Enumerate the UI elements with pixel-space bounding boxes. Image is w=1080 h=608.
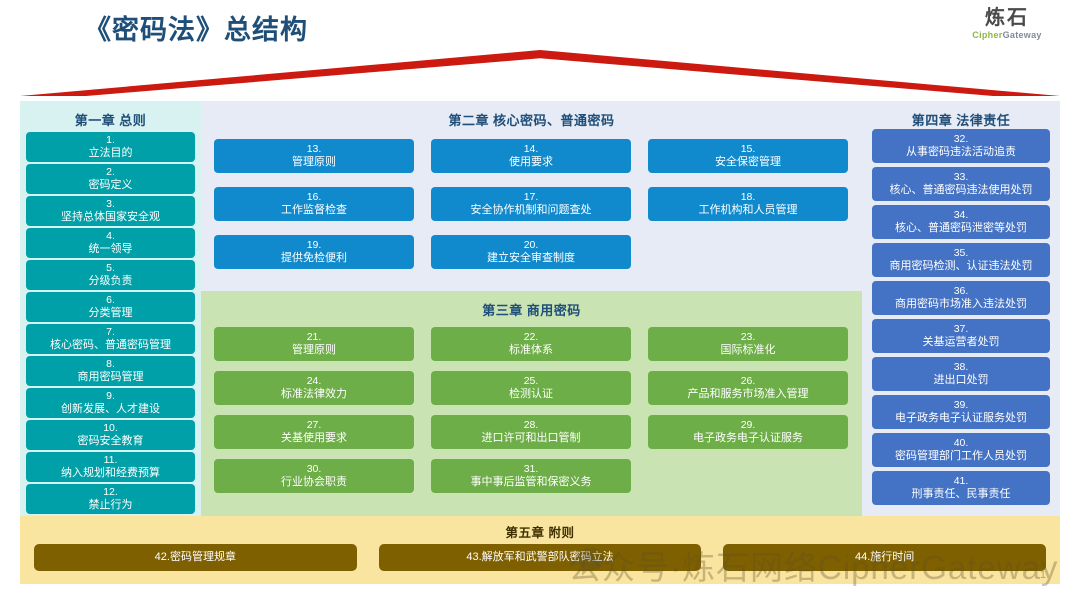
chapter4-item[interactable]: 35.商用密码检测、认证违法处罚 [872,243,1050,277]
slide-canvas: 《密码法》总结构 炼石 CipherGateway 密码法 第一章 总则 1.立… [0,0,1080,608]
item-number: 39. [954,399,969,411]
page-title: 《密码法》总结构 [84,8,308,47]
chapter5-item[interactable]: 44.施行时间 [723,544,1046,571]
item-text: 安全协作机制和问题查处 [471,204,592,217]
chapter1-item[interactable]: 5.分级负责 [26,260,195,290]
chapter4-item[interactable]: 39.电子政务电子认证服务处罚 [872,395,1050,429]
item-text: 工作监督检查 [281,204,347,217]
chapter3-item[interactable]: 22.标准体系 [431,327,631,361]
chapter1-item-list: 1.立法目的 2.密码定义 3.坚持总体国家安全观 4.统一领导 5.分级负责 … [26,132,195,516]
item-text: 商用密码管理 [78,371,144,384]
item-number: 20. [524,239,539,251]
item-text: 电子政务电子认证服务 [693,432,803,445]
item-number: 4. [106,230,115,242]
chapter3-section: 第三章 商用密码 21.管理原则 22.标准体系 23.国际标准化 24.标准法… [201,291,862,516]
item-number: 17. [524,191,539,203]
chapter2-item[interactable]: 16.工作监督检查 [214,187,414,221]
banner-label: 密码法 [20,62,1060,87]
item-text: 管理原则 [292,344,336,357]
item-number: 23. [741,331,756,343]
chapter3-item[interactable]: 21.管理原则 [214,327,414,361]
item-number: 31. [524,463,539,475]
logo-english-text: CipherGateway [952,30,1062,40]
chapter4-item[interactable]: 32.从事密码违法活动追责 [872,129,1050,163]
item-text: 核心密码、普通密码管理 [50,339,171,352]
chapter1-item[interactable]: 9.创新发展、人才建设 [26,388,195,418]
chapter5-heading: 第五章 附则 [20,516,1060,541]
item-number: 13. [307,143,322,155]
item-text: 关基运营者处罚 [923,336,1000,349]
item-number: 37. [954,323,969,335]
chapter5-item[interactable]: 42.密码管理规章 [34,544,357,571]
structure-board: 第一章 总则 1.立法目的 2.密码定义 3.坚持总体国家安全观 4.统一领导 … [20,101,1060,516]
item-text: 事中事后监管和保密义务 [471,476,592,489]
chapter1-item[interactable]: 7.核心密码、普通密码管理 [26,324,195,354]
chapter4-item[interactable]: 37.关基运营者处罚 [872,319,1050,353]
item-number: 29. [741,419,756,431]
chapter5-item[interactable]: 43.解放军和武警部队密码立法 [379,544,702,571]
chapter3-item[interactable]: 30.行业协会职责 [214,459,414,493]
item-text: 坚持总体国家安全观 [61,211,160,224]
item-number: 18. [741,191,756,203]
chapter2-item[interactable]: 19.提供免检便利 [214,235,414,269]
chapter1-item[interactable]: 12.禁止行为 [26,484,195,514]
logo-cipher-text: Cipher [972,30,1002,40]
logo: 炼石 CipherGateway [952,8,1062,40]
item-number: 14. [524,143,539,155]
chapter1-item[interactable]: 2.密码定义 [26,164,195,194]
item-text: 立法目的 [89,147,133,160]
chapter5-item-row: 42.密码管理规章 43.解放军和武警部队密码立法 44.施行时间 [34,544,1046,571]
item-text: 进出口处罚 [934,374,989,387]
chapter4-heading: 第四章 法律责任 [862,101,1060,129]
item-number: 11. [104,454,118,466]
item-text: 工作机构和人员管理 [699,204,798,217]
item-text: 44.施行时间 [855,551,914,564]
item-number: 8. [106,358,115,370]
item-text: 管理原则 [292,156,336,169]
item-number: 28. [524,419,539,431]
item-text: 核心、普通密码泄密等处罚 [895,222,1027,235]
item-text: 42.密码管理规章 [155,551,236,564]
item-number: 3. [106,198,115,210]
item-number: 26. [741,375,756,387]
chapter1-column: 第一章 总则 1.立法目的 2.密码定义 3.坚持总体国家安全观 4.统一领导 … [20,101,201,516]
item-number: 36. [954,285,969,297]
item-text: 分类管理 [89,307,133,320]
item-number: 12. [103,486,118,498]
chapter3-item[interactable]: 27.关基使用要求 [214,415,414,449]
item-number: 10. [103,422,118,434]
item-number: 27. [307,419,322,431]
item-number: 2. [106,166,115,178]
item-number: 6. [106,294,115,306]
item-text: 行业协会职责 [281,476,347,489]
item-text: 从事密码违法活动追责 [906,146,1016,159]
chapter3-item[interactable]: 29.电子政务电子认证服务 [648,415,848,449]
item-text: 禁止行为 [89,499,133,512]
chapter3-item[interactable]: 26.产品和服务市场准入管理 [648,371,848,405]
item-text: 创新发展、人才建设 [61,403,160,416]
chapter4-item[interactable]: 41.刑事责任、民事责任 [872,471,1050,505]
item-text: 电子政务电子认证服务处罚 [895,412,1027,425]
item-text: 产品和服务市场准入管理 [688,388,809,401]
chapter2-section: 第二章 核心密码、普通密码 13.管理原则 14.使用要求 15.安全保密管理 … [201,101,862,291]
item-number: 25. [524,375,539,387]
item-text: 国际标准化 [721,344,776,357]
item-text: 关基使用要求 [281,432,347,445]
chapter4-item[interactable]: 40.密码管理部门工作人员处罚 [872,433,1050,467]
chapter4-column: 第四章 法律责任 32.从事密码违法活动追责 33.核心、普通密码违法使用处罚 … [862,101,1060,516]
chapter4-item-list: 32.从事密码违法活动追责 33.核心、普通密码违法使用处罚 34.核心、普通密… [872,129,1050,509]
item-text: 分级负责 [89,275,133,288]
chapter1-item[interactable]: 6.分类管理 [26,292,195,322]
chapter1-heading: 第一章 总则 [20,101,201,129]
chapter3-item[interactable]: 24.标准法律效力 [214,371,414,405]
middle-columns: 第二章 核心密码、普通密码 13.管理原则 14.使用要求 15.安全保密管理 … [201,101,862,516]
chapter2-item[interactable]: 15.安全保密管理 [648,139,848,173]
chapter1-item[interactable]: 11.纳入规划和经费预算 [26,452,195,482]
item-text: 密码管理部门工作人员处罚 [895,450,1027,463]
chapter1-item[interactable]: 1.立法目的 [26,132,195,162]
chapter3-item[interactable]: 23.国际标准化 [648,327,848,361]
item-number: 21. [307,331,322,343]
item-number: 9. [106,390,115,402]
item-number: 38. [954,361,969,373]
item-number: 40. [954,437,969,449]
item-text: 刑事责任、民事责任 [912,488,1011,501]
chapter2-item[interactable]: 14.使用要求 [431,139,631,173]
chapter3-item[interactable]: 31.事中事后监管和保密义务 [431,459,631,493]
item-number: 30. [307,463,322,475]
item-number: 19. [307,239,322,251]
chapter4-item[interactable]: 34.核心、普通密码泄密等处罚 [872,205,1050,239]
item-number: 34. [954,209,969,221]
chapter3-item-grid: 21.管理原则 22.标准体系 23.国际标准化 24.标准法律效力 25.检测… [214,327,849,493]
item-number: 32. [954,133,969,145]
chapter4-item[interactable]: 33.核心、普通密码违法使用处罚 [872,167,1050,201]
item-text: 检测认证 [509,388,553,401]
item-number: 41. [954,475,969,487]
item-number: 24. [307,375,322,387]
chapter2-item[interactable]: 13.管理原则 [214,139,414,173]
chapter4-item[interactable]: 36.商用密码市场准入违法处罚 [872,281,1050,315]
item-text: 建立安全审查制度 [487,252,575,265]
item-text: 统一领导 [89,243,133,256]
item-number: 1. [106,134,115,146]
item-text: 进口许可和出口管制 [482,432,581,445]
chapter2-item-grid: 13.管理原则 14.使用要求 15.安全保密管理 16.工作监督检查 17.安… [214,139,849,269]
item-number: 15. [741,143,756,155]
chapter4-item[interactable]: 38.进出口处罚 [872,357,1050,391]
item-text: 使用要求 [509,156,553,169]
chapter2-item[interactable]: 20.建立安全审查制度 [431,235,631,269]
item-number: 16. [307,191,322,203]
item-text: 提供免检便利 [281,252,347,265]
chapter3-item[interactable]: 28.进口许可和出口管制 [431,415,631,449]
item-text: 商用密码检测、认证违法处罚 [890,260,1033,273]
item-text: 43.解放军和武警部队密码立法 [466,551,613,564]
logo-chinese-text: 炼石 [952,8,1062,29]
chapter3-heading: 第三章 商用密码 [201,291,862,319]
chapter1-item[interactable]: 10.密码安全教育 [26,420,195,450]
item-text: 安全保密管理 [715,156,781,169]
chapter2-item[interactable]: 17.安全协作机制和问题查处 [431,187,631,221]
item-text: 核心、普通密码违法使用处罚 [890,184,1033,197]
item-text: 密码安全教育 [78,435,144,448]
item-text: 标准法律效力 [281,388,347,401]
chapter1-item[interactable]: 4.统一领导 [26,228,195,258]
chapter1-item[interactable]: 8.商用密码管理 [26,356,195,386]
item-text: 纳入规划和经费预算 [61,467,160,480]
item-text: 密码定义 [89,179,133,192]
logo-gateway-text: Gateway [1003,30,1042,40]
item-text: 商用密码市场准入违法处罚 [895,298,1027,311]
item-number: 33. [954,171,969,183]
item-number: 35. [954,247,969,259]
chapter2-heading: 第二章 核心密码、普通密码 [201,101,862,129]
item-text: 标准体系 [509,344,553,357]
chapter3-item[interactable]: 25.检测认证 [431,371,631,405]
law-banner: 密码法 [20,50,1060,96]
item-number: 7. [106,326,115,338]
chapter1-item[interactable]: 3.坚持总体国家安全观 [26,196,195,226]
page-number: 1 [1040,569,1046,581]
chapter2-item[interactable]: 18.工作机构和人员管理 [648,187,848,221]
item-number: 22. [524,331,539,343]
chapter5-section: 第五章 附则 42.密码管理规章 43.解放军和武警部队密码立法 44.施行时间… [20,516,1060,584]
item-number: 5. [106,262,115,274]
